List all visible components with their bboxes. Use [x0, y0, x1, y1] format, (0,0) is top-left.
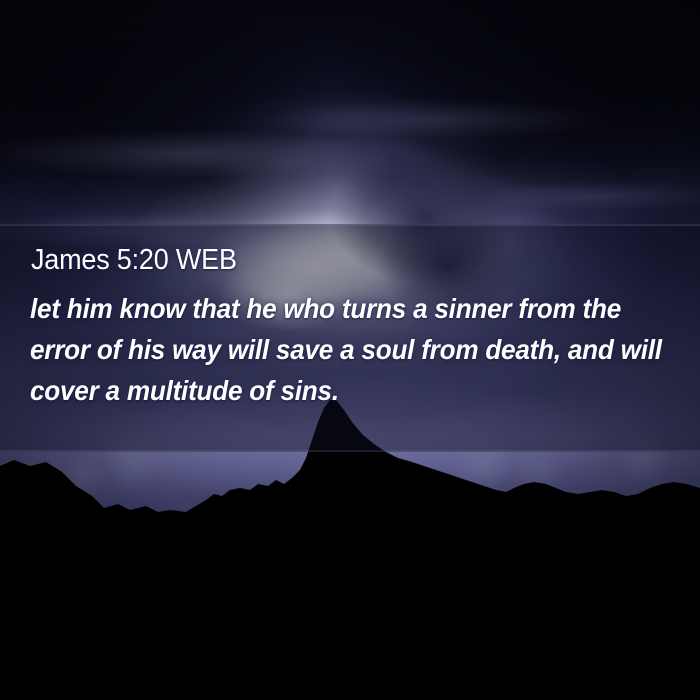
verse-body-text: let him know that he who turns a sinner …	[30, 288, 684, 411]
verse-text-block: James 5:20 WEB let him know that he who …	[0, 224, 700, 452]
verse-image-canvas: James 5:20 WEB let him know that he who …	[0, 0, 700, 700]
verse-reference: James 5:20 WEB	[31, 246, 640, 275]
